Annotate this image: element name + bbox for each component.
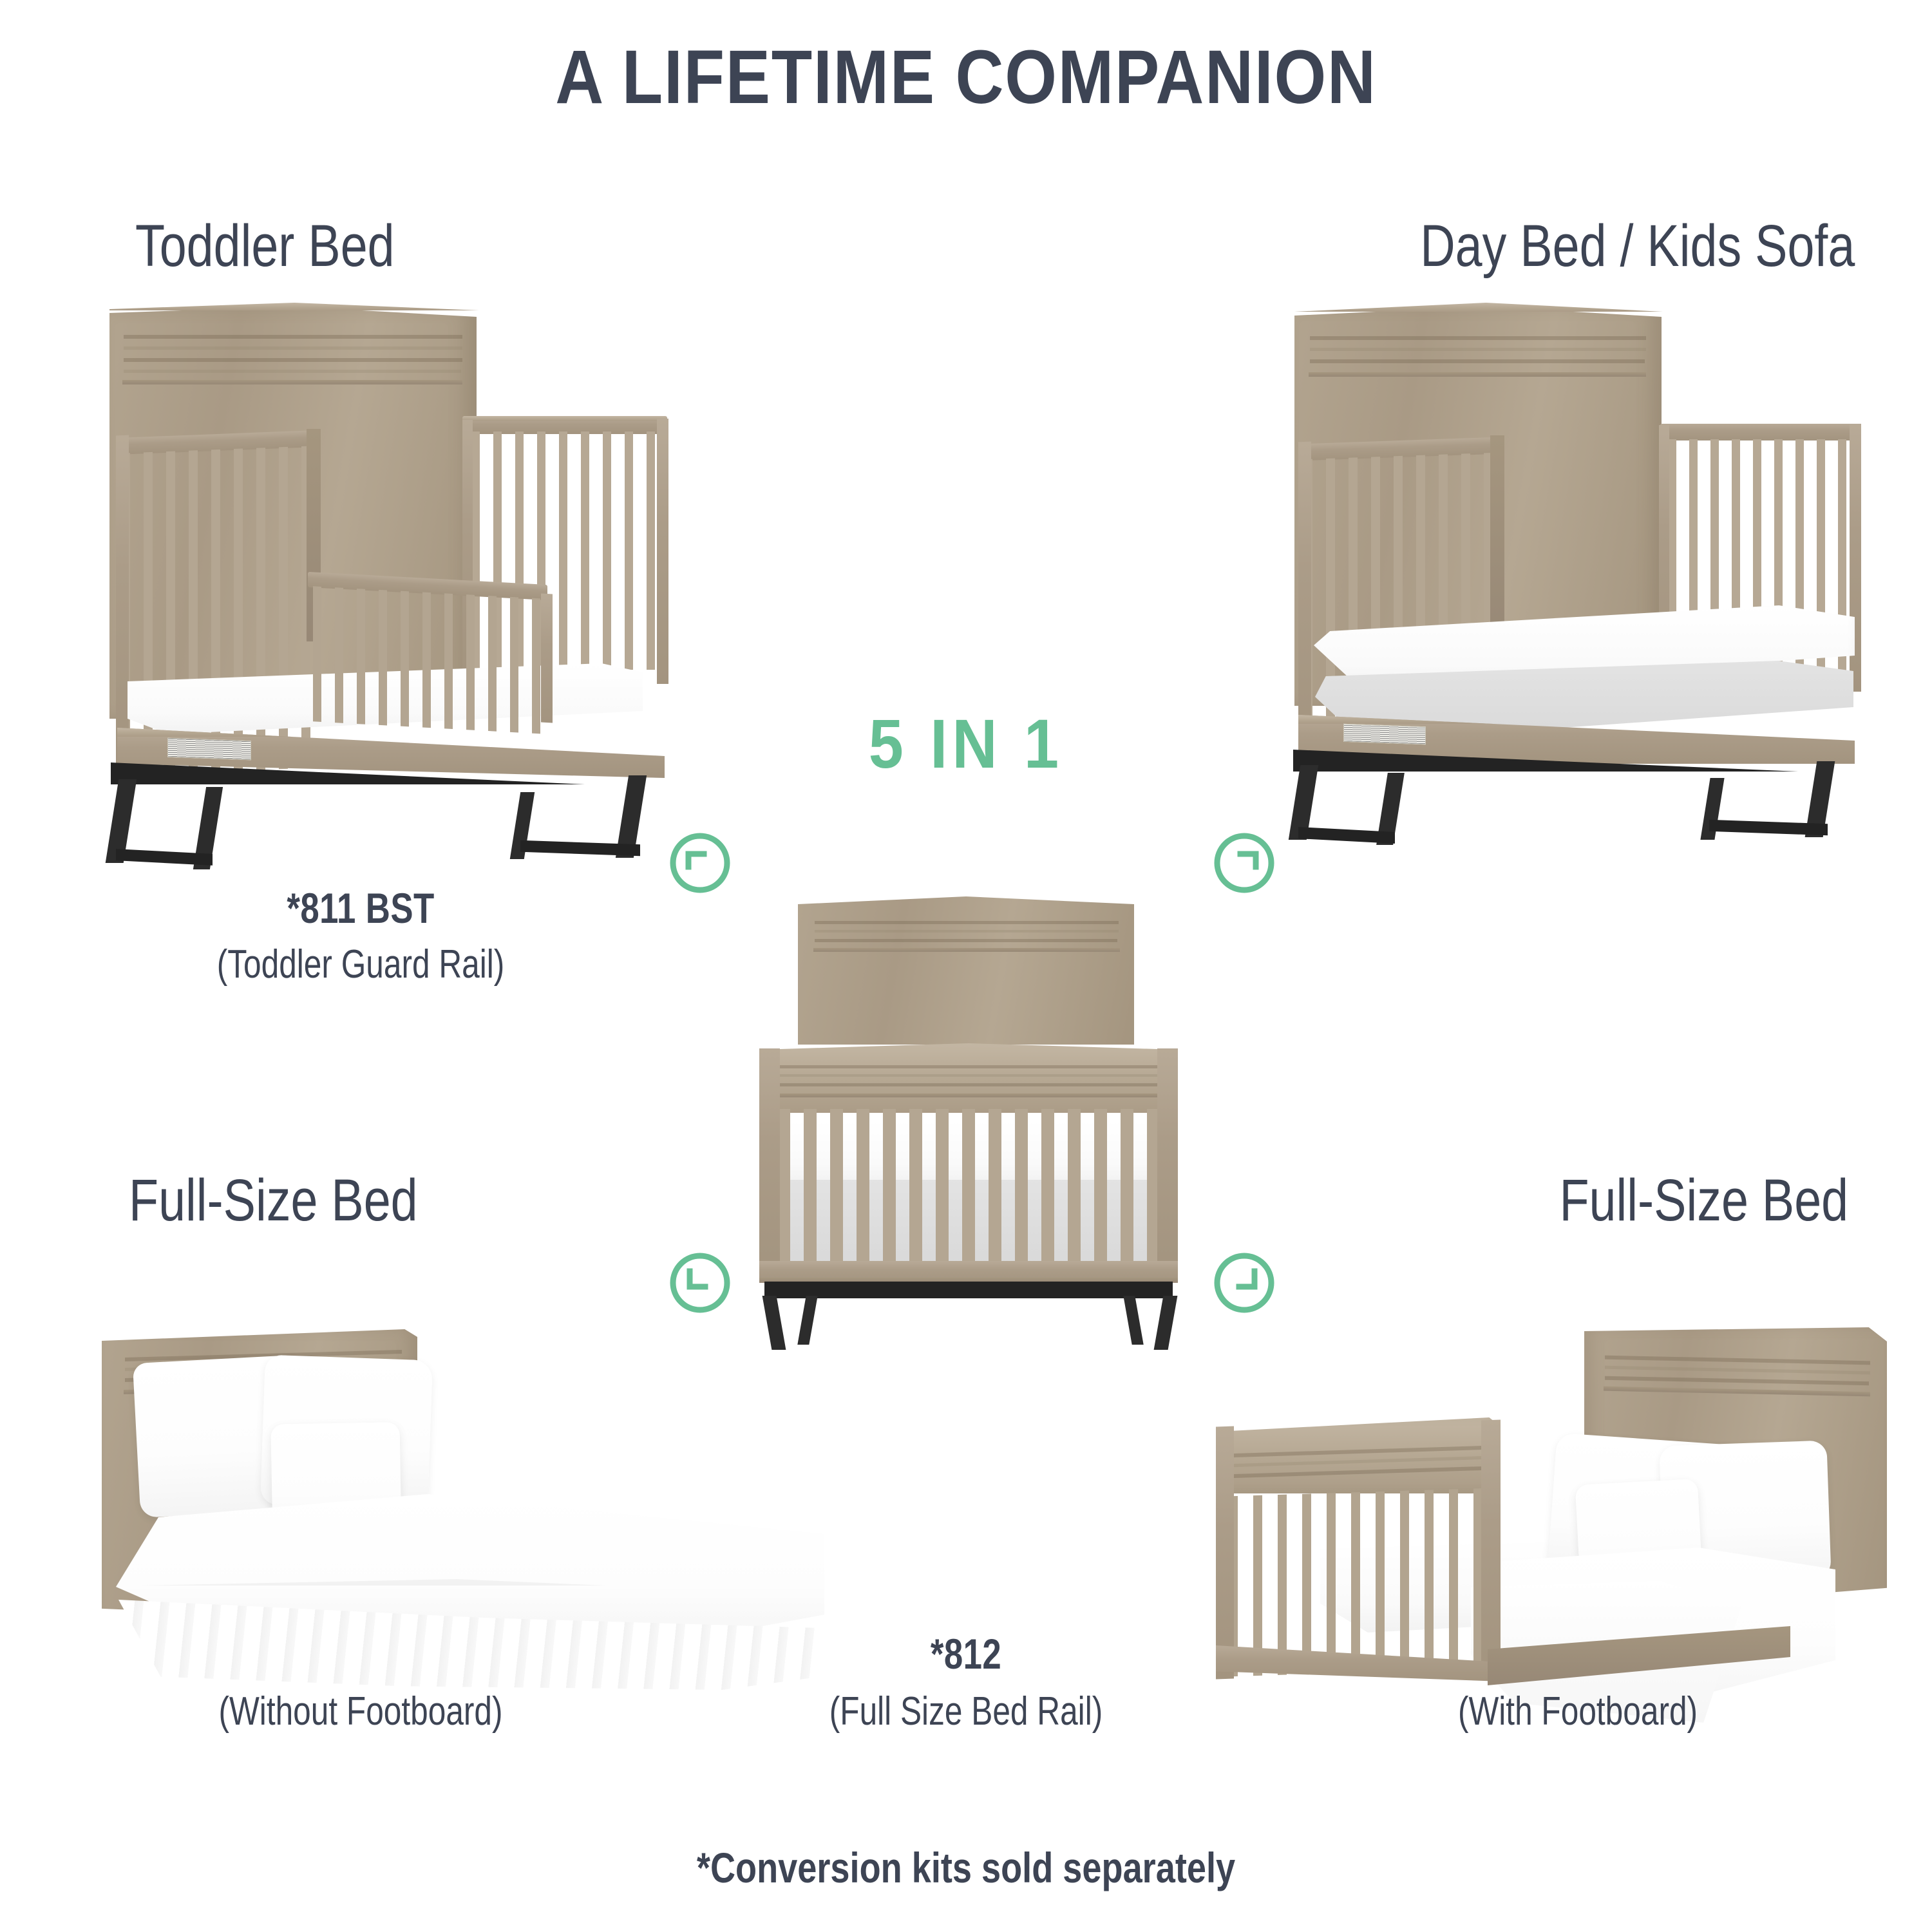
section-title-full-size-bed-right: Full-Size Bed	[1559, 1167, 1848, 1235]
arrow-badge-bottom-right[interactable]	[1211, 1249, 1278, 1316]
caption-kit-name-toddler-guard-rail: (Toddler Guard Rail)	[72, 942, 649, 987]
caption-kit-name-full-size-bed-rail: (Full Size Bed Rail)	[744, 1689, 1188, 1734]
page-title: A LIFETIME COMPANION	[116, 33, 1816, 121]
section-title-full-size-bed-left: Full-Size Bed	[129, 1167, 418, 1235]
footer-disclaimer: *Conversion kits sold separately	[174, 1843, 1758, 1892]
full-bed-footboard-slats	[1229, 1488, 1490, 1677]
caption-kit-code-812: *812	[801, 1629, 1131, 1678]
day-bed-right-arm-rail	[1660, 424, 1860, 440]
full-bed-without-footboard-illustration	[97, 1327, 857, 1687]
section-title-toddler-bed: Toddler Bed	[135, 213, 395, 280]
arrow-badge-top-right[interactable]	[1211, 829, 1278, 896]
crib-front-top-rail	[759, 1043, 1178, 1113]
caption-without-footboard: (Without Footboard)	[103, 1689, 618, 1734]
caption-with-footboard: (With Footboard)	[1320, 1689, 1835, 1734]
crib-metal-base	[764, 1282, 1173, 1298]
full-bed-with-footboard-illustration	[1211, 1323, 1893, 1690]
infographic-page: A LIFETIME COMPANION Toddler Bed Day Bed…	[0, 0, 1932, 1932]
crib-headboard-panel	[798, 896, 1134, 1045]
crib-front-slats	[777, 1109, 1161, 1270]
arrow-badge-bottom-left[interactable]	[667, 1249, 734, 1316]
arrow-badge-top-left[interactable]	[667, 829, 734, 896]
section-title-day-bed: Day Bed / Kids Sofa	[1420, 213, 1855, 280]
convertible-crib-illustration	[750, 896, 1188, 1309]
five-in-one-badge: 5 IN 1	[97, 703, 1835, 784]
caption-kit-code-811: *811 BST	[72, 884, 649, 933]
